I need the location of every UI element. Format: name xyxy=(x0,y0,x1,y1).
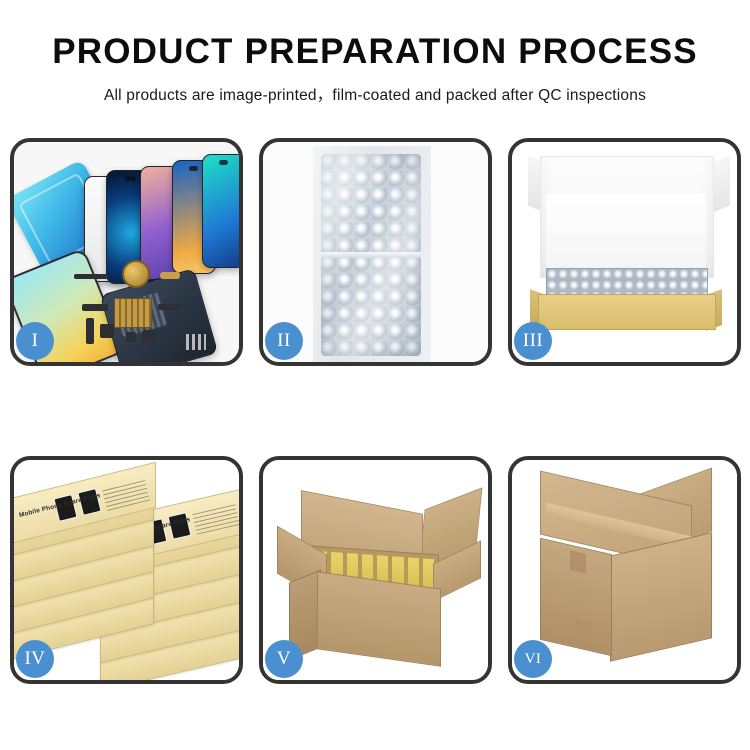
wrap-seam xyxy=(321,252,421,258)
sim-tray-part xyxy=(126,332,136,342)
step-badge-4: IV xyxy=(16,640,54,678)
step-badge-3: III xyxy=(514,322,552,360)
carton-handle-tab-top xyxy=(570,550,586,574)
step-image-sealed-carton: VI xyxy=(512,460,737,680)
flex-cable-part xyxy=(82,304,108,311)
step-panel-4: Mobile Phone Spare Parts Mobile Phone Sp… xyxy=(10,456,243,684)
process-steps-grid: I II III xyxy=(10,138,740,684)
speaker-coil-part xyxy=(122,260,150,288)
camera-module-part xyxy=(100,324,114,338)
step-panel-6: VI xyxy=(508,456,741,684)
side-button-part xyxy=(86,318,94,344)
screw-set-part xyxy=(186,334,206,350)
page-title: PRODUCT PREPARATION PROCESS xyxy=(0,34,750,71)
taptic-engine-part xyxy=(142,330,156,342)
phone-teal-wallpaper xyxy=(202,154,239,268)
step-image-inner-box-packing: III xyxy=(512,142,737,362)
step-image-stacked-retail-boxes: Mobile Phone Spare Parts Mobile Phone Sp… xyxy=(14,460,239,680)
step-image-carton-filling: V xyxy=(263,460,488,680)
step-image-products-and-parts: I xyxy=(14,142,239,362)
step-panel-5: V xyxy=(259,456,492,684)
step-badge-2: II xyxy=(265,322,303,360)
step-badge-6: VI xyxy=(514,640,552,678)
antenna-cable-part xyxy=(158,304,180,310)
foam-sheet xyxy=(546,194,706,272)
step-panel-1: I xyxy=(10,138,243,366)
gold-connector-part xyxy=(160,272,180,279)
chip-array-part xyxy=(114,298,152,328)
spare-parts-group xyxy=(74,260,204,360)
carton-right-face xyxy=(610,532,712,662)
step-image-bubble-wrap: II xyxy=(263,142,488,362)
header: PRODUCT PREPARATION PROCESS All products… xyxy=(0,0,750,105)
flex-strip-part xyxy=(74,274,108,279)
step-panel-3: III xyxy=(508,138,741,366)
step-panel-2: II xyxy=(259,138,492,366)
product-preparation-infographic: PRODUCT PREPARATION PROCESS All products… xyxy=(0,0,750,750)
step-badge-1: I xyxy=(16,322,54,360)
carton-handle-tab-bottom xyxy=(576,618,592,642)
page-subtitle: All products are image-printed，film-coat… xyxy=(0,83,750,105)
carton-front-face xyxy=(317,571,441,666)
kraft-box-tray xyxy=(538,294,716,330)
step-badge-5: V xyxy=(265,640,303,678)
